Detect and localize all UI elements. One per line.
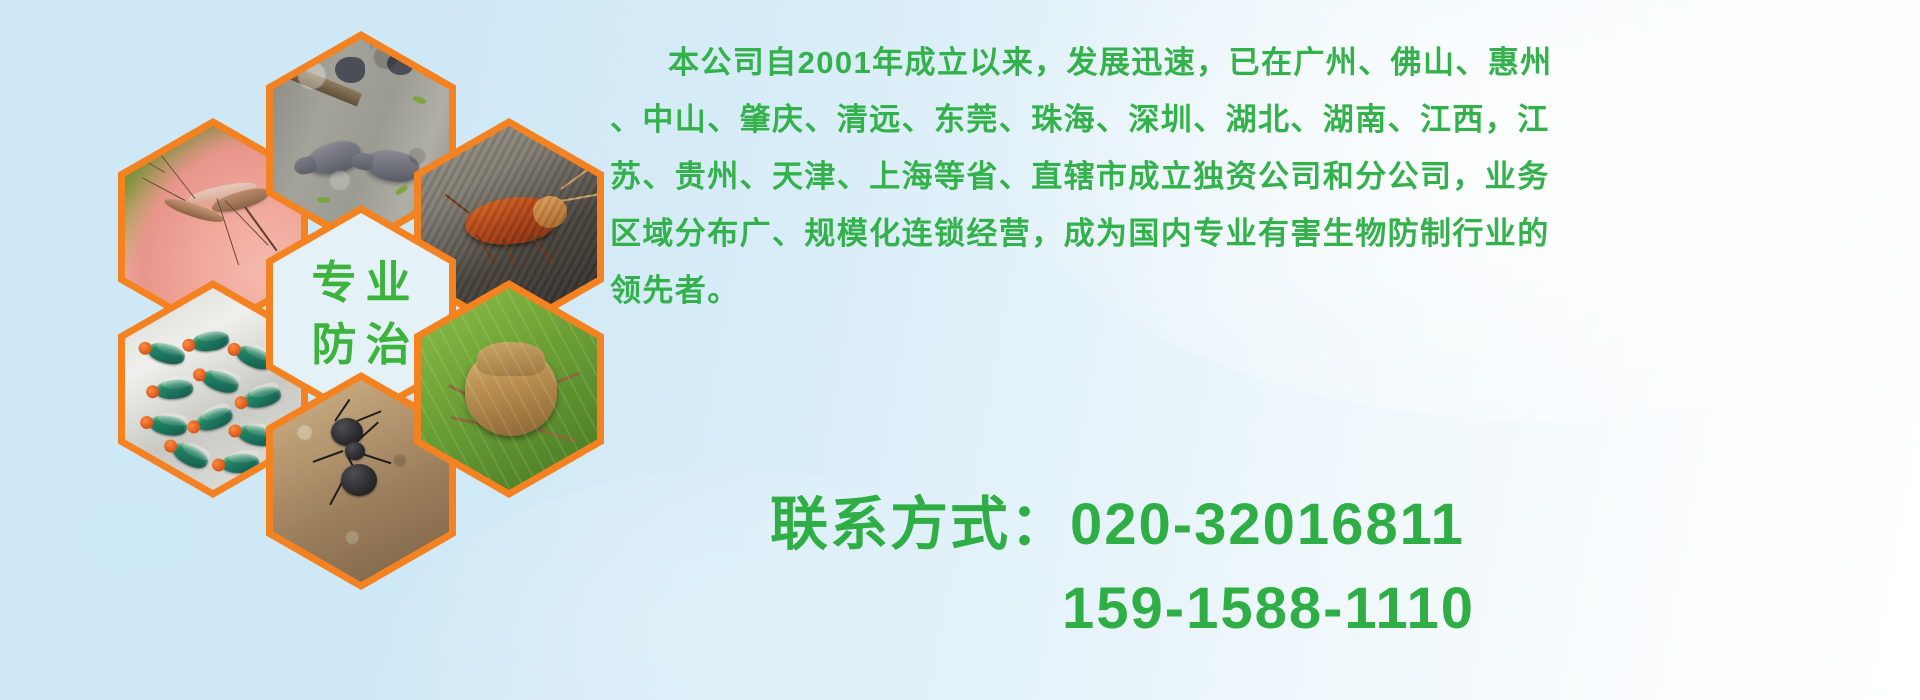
mosquito-leg-icon [142, 178, 185, 201]
slogan-line-1: 专业 [302, 252, 419, 314]
rat-tail-icon [369, 39, 380, 49]
fly-icon [148, 413, 188, 437]
rat-tail-icon [320, 39, 334, 47]
cockroach-antenna-icon [560, 164, 595, 190]
mosquito-antenna-icon [130, 152, 165, 173]
rat-head-icon [350, 151, 375, 172]
cockroach-leg-icon [502, 239, 517, 269]
cockroach-pronotum-icon [531, 194, 569, 230]
stinkbug-leg-icon [537, 428, 576, 442]
cockroach-leg-icon [476, 234, 496, 264]
fly-icon [169, 439, 211, 473]
ant-leg-icon [346, 455, 366, 489]
description-line-1: 本公司自2001年成立以来，发展迅速，已在广州、佛山、惠州 [610, 34, 1905, 91]
ant-head-icon [331, 418, 363, 446]
description-line-5: 领先者。 [610, 262, 1905, 319]
fly-icon [154, 378, 194, 401]
cockroach-leg-icon [445, 194, 470, 214]
cockroach-antenna-icon [561, 192, 597, 202]
stinkbug-body-icon [465, 350, 557, 436]
fly-icon [190, 329, 231, 354]
description-line-2: 、中山、肇庆、清远、东莞、珠海、深圳、湖北、湖南、江西，江 [610, 91, 1905, 148]
stinkbug-photo [421, 288, 597, 490]
stinkbug-leg-icon [448, 384, 485, 405]
fly-icon [220, 453, 259, 475]
company-description: 本公司自2001年成立以来，发展迅速，已在广州、佛山、惠州 、中山、肇庆、清远、… [610, 34, 1905, 319]
contact-phone-mobile[interactable]: 159-1588-1110 [770, 567, 1870, 651]
ant-leg-icon [329, 473, 348, 506]
wooden-plank-icon [273, 58, 362, 107]
leaf-icon [412, 94, 426, 106]
mosquito-proboscis-icon [244, 206, 277, 251]
slogan-line-2: 防治 [302, 314, 419, 376]
fly-icon [145, 340, 186, 368]
rat-bait-icon [335, 57, 365, 83]
stinkbug-shield-icon [477, 342, 545, 376]
ant-abdomen-icon [341, 464, 377, 496]
cockroach-leg-icon [530, 234, 554, 264]
contact-block: 联系方式：020-32016811 159-1588-1110 [770, 483, 1870, 651]
honeycomb-collage: 专业 防治 [78, 0, 598, 570]
fly-icon [241, 384, 282, 412]
stinkbug-scene [421, 288, 597, 490]
stinkbug-leg-icon [451, 416, 493, 428]
promo-banner: 专业 防治 [0, 0, 1920, 700]
contact-phone-landline[interactable]: 联系方式：020-32016811 [770, 483, 1870, 567]
stinkbug-leg-icon [538, 372, 580, 391]
ant-leg-icon [353, 450, 392, 464]
rat-bait-icon [387, 53, 413, 75]
fly-icon [199, 367, 241, 397]
mosquito-leg-icon [160, 154, 195, 199]
ant-leg-icon [313, 450, 344, 463]
ant-antenna-icon [334, 399, 350, 422]
rat-head-icon [292, 155, 317, 177]
ant-thorax-icon [345, 442, 365, 460]
ant-antenna-icon [357, 410, 382, 422]
leaf-icon [317, 196, 331, 205]
description-line-3: 苏、贵州、天津、上海等省、直辖市成立独资公司和分公司，业务 [610, 148, 1905, 205]
leaf-icon [394, 185, 408, 196]
ant-leg-icon [352, 422, 379, 446]
cockroach-body-icon [463, 193, 560, 250]
rat-icon [304, 137, 364, 179]
rat-icon [363, 147, 421, 186]
description-line-4: 区域分布广、规模化连锁经营，成为国内专业有害生物防制行业的 [610, 205, 1905, 262]
